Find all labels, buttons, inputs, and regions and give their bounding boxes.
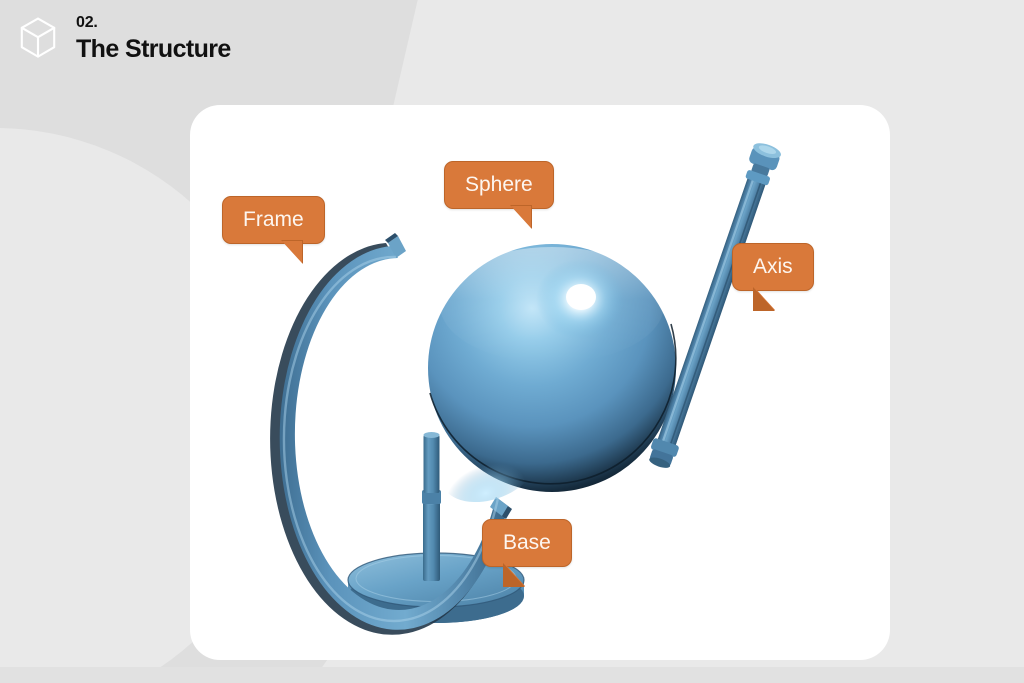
callout-tail-icon xyxy=(505,564,525,586)
globe-sphere-part xyxy=(428,244,676,516)
callout-frame-label: Frame xyxy=(243,208,304,231)
callout-base-label: Base xyxy=(503,531,551,554)
callout-axis[interactable]: Axis xyxy=(732,243,814,291)
section-number: 02. xyxy=(76,14,231,32)
header-text-group: 02. The Structure xyxy=(76,14,231,63)
callout-tail-icon xyxy=(511,206,531,228)
callout-tail-icon xyxy=(755,288,775,310)
callout-sphere[interactable]: Sphere xyxy=(444,161,554,209)
callout-base[interactable]: Base xyxy=(482,519,572,567)
callout-sphere-label: Sphere xyxy=(465,173,533,196)
callout-frame[interactable]: Frame xyxy=(222,196,325,244)
cube-icon xyxy=(18,16,58,60)
page-title: The Structure xyxy=(76,35,231,63)
callout-axis-label: Axis xyxy=(753,255,793,278)
callout-tail-icon xyxy=(282,241,302,263)
background-bottom-strip xyxy=(0,667,1024,683)
slide-header: 02. The Structure xyxy=(0,0,231,63)
slide: 02. The Structure xyxy=(0,0,1024,683)
